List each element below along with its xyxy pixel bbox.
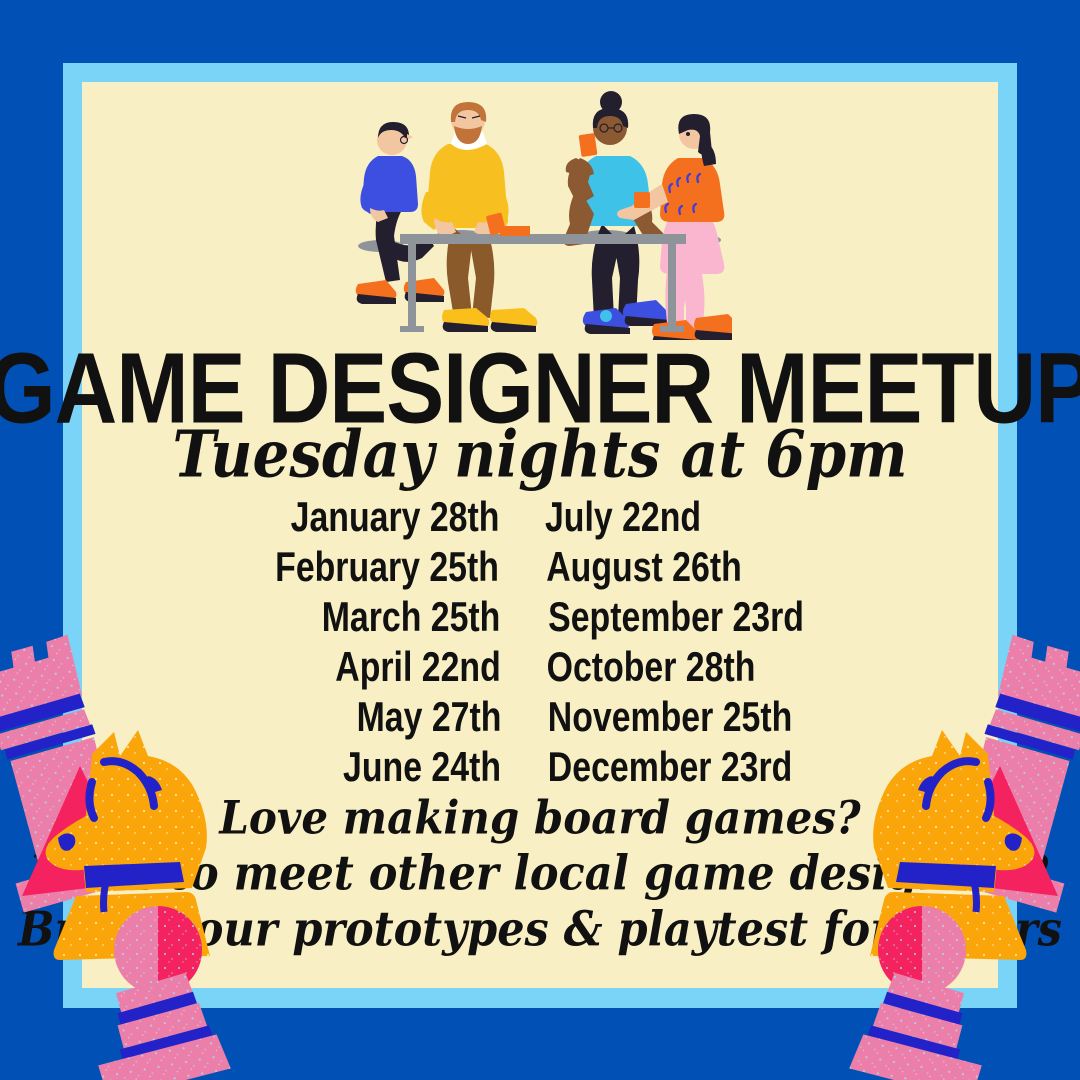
chess-pawn-left bbox=[85, 968, 232, 1080]
chess-circle-right bbox=[878, 906, 966, 994]
chess-circle-left bbox=[114, 906, 202, 994]
dash-right-2 bbox=[1017, 252, 1080, 324]
dash-top-right-block bbox=[980, 0, 1080, 63]
chess-decoration-right bbox=[770, 614, 1080, 1080]
illustration-people-playing-board-game bbox=[348, 88, 732, 340]
subtitle-schedule: Tuesday nights at 6pm bbox=[0, 416, 1080, 492]
person-3 bbox=[564, 91, 670, 334]
chess-pawn-right bbox=[847, 968, 994, 1080]
chess-decoration-left bbox=[0, 614, 310, 1080]
poster-canvas: GAME DESIGNER MEETUP Tuesday nights at 6… bbox=[0, 0, 1080, 1080]
dash-top-left-block bbox=[0, 0, 100, 63]
